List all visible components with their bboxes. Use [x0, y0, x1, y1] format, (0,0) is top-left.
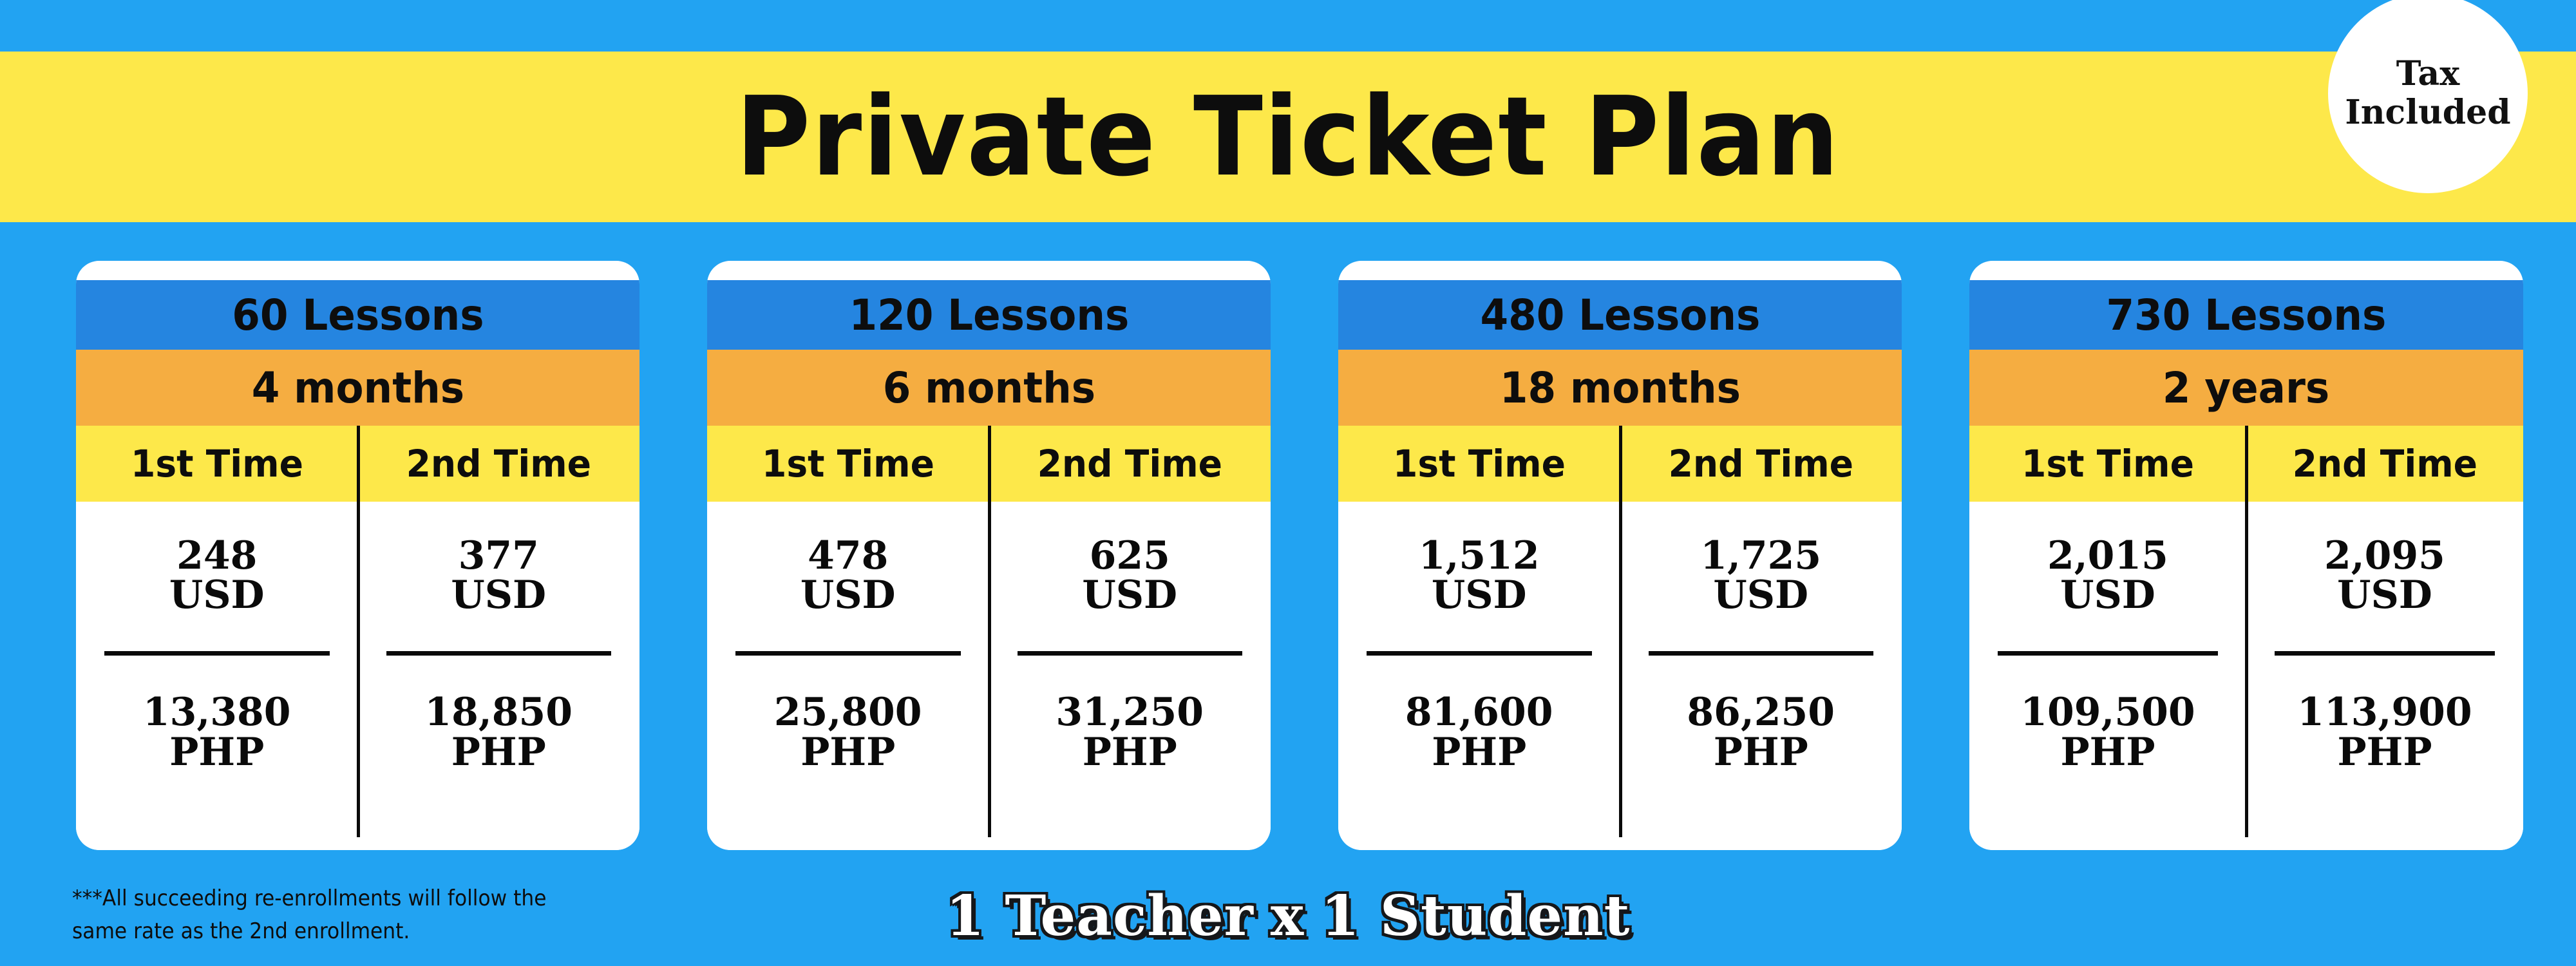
tagline-teacher: 1 Teacher [946, 884, 1254, 949]
price-usd: 625 USD [1082, 536, 1177, 615]
time-header-first: 1st Time [707, 426, 989, 502]
price-divider-rule [1018, 651, 1243, 656]
price-php-currency: PHP [774, 733, 922, 772]
price-php-currency: PHP [424, 733, 573, 772]
duration-row: 6 months [707, 350, 1271, 426]
time-header-first-label: 1st Time [2022, 442, 2194, 486]
price-usd-amount: 377 [459, 533, 539, 578]
time-header-first: 1st Time [1338, 426, 1620, 502]
card-vertical-divider [2245, 426, 2248, 837]
price-cell-first-time: 2,015 USD 109,500 PHP [1969, 518, 2246, 850]
card-vertical-divider [1619, 426, 1622, 837]
price-usd-currency: USD [451, 576, 546, 615]
price-php-amount: 109,500 [2020, 690, 2195, 735]
price-php: 113,900 PHP [2297, 693, 2472, 772]
duration-row: 18 months [1338, 350, 1902, 426]
price-usd-amount: 1,512 [1419, 533, 1540, 578]
duration-label: 6 months [882, 363, 1095, 413]
time-header-second-label: 2nd Time [1037, 442, 1222, 486]
card-vertical-divider [988, 426, 991, 837]
lessons-label: 60 Lessons [232, 290, 484, 340]
tax-included-badge: Tax Included [2328, 0, 2528, 193]
price-divider-rule [2275, 651, 2495, 656]
time-header-first-label: 1st Time [131, 442, 303, 486]
duration-label: 2 years [2163, 363, 2329, 413]
lessons-label: 730 Lessons [2107, 290, 2387, 340]
time-header-second-label: 2nd Time [2292, 442, 2477, 486]
price-php-currency: PHP [2297, 733, 2472, 772]
price-php-currency: PHP [1056, 733, 1204, 772]
price-divider-rule [735, 651, 961, 656]
time-header-second: 2nd Time [2246, 426, 2523, 502]
price-cell-first-time: 478 USD 25,800 PHP [707, 518, 989, 850]
time-header-first-label: 1st Time [762, 442, 934, 486]
duration-label: 18 months [1499, 363, 1740, 413]
pricing-card-60-lessons[interactable]: 60 Lessons 4 months 1st Time 2nd Time 24… [76, 261, 639, 850]
price-php-currency: PHP [143, 733, 291, 772]
price-php: 25,800 PHP [774, 693, 922, 772]
price-usd-amount: 625 [1090, 533, 1170, 578]
price-cell-second-time: 1,725 USD 86,250 PHP [1620, 518, 1902, 850]
pricing-card-730-lessons[interactable]: 730 Lessons 2 years 1st Time 2nd Time 2,… [1969, 261, 2523, 850]
price-php-amount: 25,800 [774, 690, 922, 735]
price-php-currency: PHP [1405, 733, 1553, 772]
price-php-amount: 13,380 [143, 690, 291, 735]
tagline: 1 Teacherx1 Student [0, 884, 2576, 949]
time-header-second-label: 2nd Time [1669, 442, 1853, 486]
price-usd-currency: USD [800, 576, 896, 615]
time-header-first: 1st Time [76, 426, 358, 502]
time-header-second-label: 2nd Time [406, 442, 591, 486]
tagline-student: 1 Student [1321, 884, 1630, 949]
price-usd-amount: 478 [808, 533, 888, 578]
price-php: 81,600 PHP [1405, 693, 1553, 772]
price-cell-second-time: 377 USD 18,850 PHP [358, 518, 640, 850]
page-title: Private Ticket Plan [736, 82, 1841, 192]
tax-badge-line-1: Tax [2396, 55, 2459, 93]
price-usd-amount: 2,015 [2047, 533, 2168, 578]
lessons-label: 120 Lessons [849, 290, 1129, 340]
price-divider-rule [1367, 651, 1592, 656]
lessons-header-row: 480 Lessons [1338, 280, 1902, 350]
price-php: 13,380 PHP [143, 693, 291, 772]
price-divider-rule [104, 651, 330, 656]
lessons-header-row: 60 Lessons [76, 280, 639, 350]
price-cell-first-time: 248 USD 13,380 PHP [76, 518, 358, 850]
price-usd-currency: USD [1700, 576, 1821, 615]
price-php-amount: 86,250 [1687, 690, 1835, 735]
price-usd: 1,512 USD [1419, 536, 1540, 615]
price-usd-currency: USD [2324, 576, 2445, 615]
duration-row: 2 years [1969, 350, 2523, 426]
price-divider-rule [386, 651, 612, 656]
title-banner: Private Ticket Plan [0, 52, 2576, 222]
lessons-header-row: 730 Lessons [1969, 280, 2523, 350]
price-usd: 2,095 USD [2324, 536, 2445, 615]
price-php-amount: 18,850 [424, 690, 573, 735]
time-header-first: 1st Time [1969, 426, 2246, 502]
lessons-header-row: 120 Lessons [707, 280, 1271, 350]
pricing-card-120-lessons[interactable]: 120 Lessons 6 months 1st Time 2nd Time 4… [707, 261, 1271, 850]
price-usd-currency: USD [169, 576, 265, 615]
price-php-amount: 31,250 [1056, 690, 1204, 735]
time-header-second: 2nd Time [358, 426, 640, 502]
price-php-amount: 81,600 [1405, 690, 1553, 735]
pricing-cards-row: 60 Lessons 4 months 1st Time 2nd Time 24… [0, 261, 2576, 853]
lessons-label: 480 Lessons [1480, 290, 1760, 340]
price-usd-amount: 248 [176, 533, 257, 578]
tagline-separator: x [1254, 884, 1321, 949]
price-usd: 2,015 USD [2047, 536, 2168, 615]
price-php: 86,250 PHP [1687, 693, 1835, 772]
price-php: 18,850 PHP [424, 693, 573, 772]
duration-label: 4 months [251, 363, 464, 413]
price-cell-second-time: 625 USD 31,250 PHP [989, 518, 1271, 850]
price-php-currency: PHP [1687, 733, 1835, 772]
price-usd: 248 USD [169, 536, 265, 615]
price-cell-second-time: 2,095 USD 113,900 PHP [2246, 518, 2523, 850]
price-divider-rule [1998, 651, 2218, 656]
price-usd: 1,725 USD [1700, 536, 1821, 615]
price-php-amount: 113,900 [2297, 690, 2472, 735]
price-divider-rule [1649, 651, 1874, 656]
price-php: 31,250 PHP [1056, 693, 1204, 772]
time-header-second: 2nd Time [989, 426, 1271, 502]
price-php-currency: PHP [2020, 733, 2195, 772]
card-vertical-divider [357, 426, 360, 837]
time-header-second: 2nd Time [1620, 426, 1902, 502]
price-usd-currency: USD [2047, 576, 2168, 615]
duration-row: 4 months [76, 350, 639, 426]
price-php: 109,500 PHP [2020, 693, 2195, 772]
price-cell-first-time: 1,512 USD 81,600 PHP [1338, 518, 1620, 850]
time-header-first-label: 1st Time [1393, 442, 1566, 486]
price-usd: 377 USD [451, 536, 546, 615]
price-usd-currency: USD [1082, 576, 1177, 615]
price-usd-currency: USD [1419, 576, 1540, 615]
price-usd: 478 USD [800, 536, 896, 615]
tax-badge-line-2: Included [2345, 93, 2510, 132]
price-usd-amount: 1,725 [1700, 533, 1821, 578]
pricing-card-480-lessons[interactable]: 480 Lessons 18 months 1st Time 2nd Time … [1338, 261, 1902, 850]
price-usd-amount: 2,095 [2324, 533, 2445, 578]
